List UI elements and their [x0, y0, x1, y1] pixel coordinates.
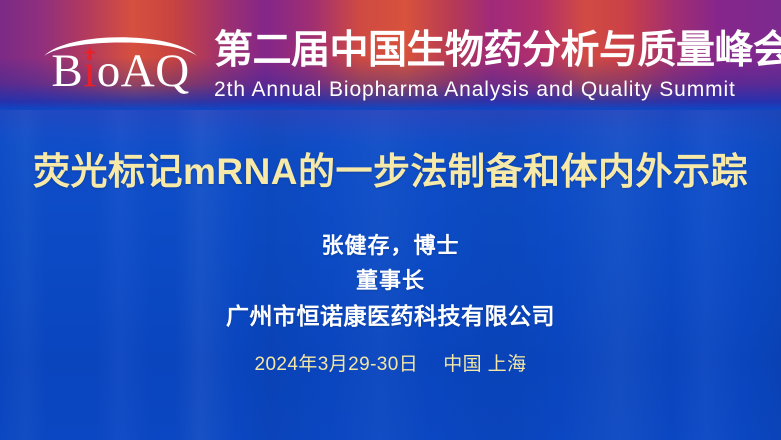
speaker-role: 董事长 [0, 266, 781, 296]
summit-title-english: 2th Annual Biopharma Analysis and Qualit… [214, 78, 770, 102]
summit-title-chinese: 第二届中国生物药分析与质量峰会 [214, 28, 770, 74]
sparkle-diamond-icon [83, 45, 96, 60]
bioaq-logo: BioAQ [38, 27, 203, 99]
conference-title-slide: BioAQ 第二届中国生物药分析与质量峰会 2th Annual Biophar… [0, 0, 781, 440]
speaker-name: 张健存，博士 [0, 231, 781, 261]
header-banner: BioAQ 第二届中国生物药分析与质量峰会 2th Annual Biophar… [0, 0, 781, 110]
logo-letter-b: B [51, 48, 83, 95]
logo-letter-i-wrap: i [83, 48, 97, 95]
logo-letters-oaq: oAQ [97, 48, 190, 95]
date-and-venue: 2024年3月29-30日 中国 上海 [0, 352, 781, 378]
speaker-company: 广州市恒诺康医药科技有限公司 [0, 301, 781, 331]
bioaq-wordmark: BioAQ [38, 44, 203, 99]
presentation-title: 荧光标记mRNA的一步法制备和体内外示踪 [0, 148, 781, 196]
